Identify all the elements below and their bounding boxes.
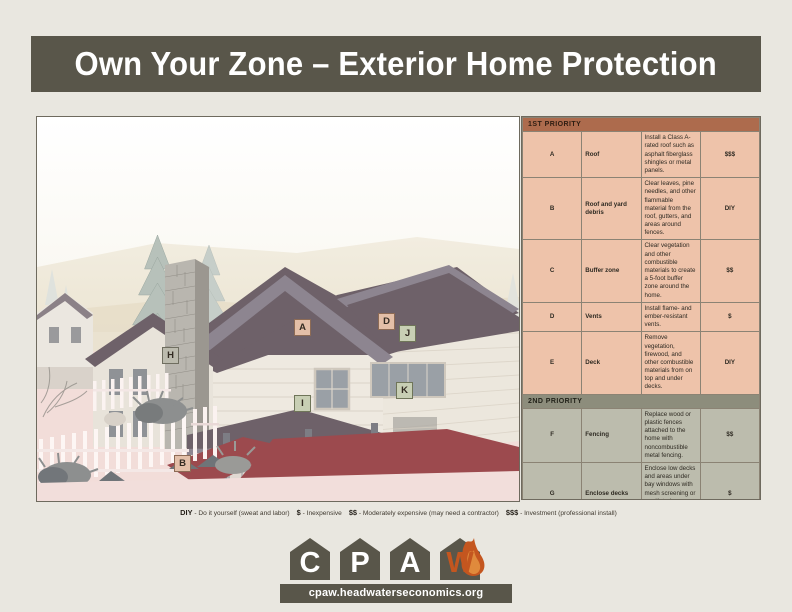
table-row: GEnclose decksEnclose low decks and area… xyxy=(523,463,760,500)
row-letter: A xyxy=(523,132,582,178)
logo-letter-p: P xyxy=(350,547,369,579)
cost-legend: DIY - Do it yourself (sweat and labor)$ … xyxy=(36,508,761,517)
legend-text: - Do it yourself (sweat and labor) xyxy=(193,510,290,517)
map-marker-d[interactable]: D xyxy=(378,313,395,330)
page-title-bar: Own Your Zone – Exterior Home Protection xyxy=(31,36,761,92)
row-description: Install a Class A-rated roof such as asp… xyxy=(641,132,700,178)
map-marker-h[interactable]: H xyxy=(162,347,179,364)
row-description: Clear vegetation and other combustible m… xyxy=(641,240,700,302)
map-marker-k[interactable]: K xyxy=(396,382,413,399)
row-cost: $$ xyxy=(700,408,759,462)
row-description: Replace wood or plastic fences attached … xyxy=(641,408,700,462)
map-marker-i[interactable]: I xyxy=(294,395,311,412)
row-cost: DIY xyxy=(700,332,759,394)
logo-letter-w: W xyxy=(446,547,474,579)
row-cost: DIY xyxy=(700,178,759,240)
row-description: Enclose low decks and areas under bay wi… xyxy=(641,463,700,500)
table-row: CBuffer zoneClear vegetation and other c… xyxy=(523,240,760,302)
logo-letter-c: C xyxy=(300,547,321,579)
row-topic: Buffer zone xyxy=(582,240,641,302)
map-marker-a[interactable]: A xyxy=(294,319,311,336)
row-topic: Roof and yard debris xyxy=(582,178,641,240)
priority-section-header: 2ND PRIORITY xyxy=(523,394,760,408)
row-letter: B xyxy=(523,178,582,240)
table-row: FFencingReplace wood or plastic fences a… xyxy=(523,408,760,462)
house-illustration: ABCDEFGHIJKL xyxy=(36,116,520,502)
legend-symbol: $$ xyxy=(349,508,357,517)
legend-symbol: $$$ xyxy=(506,508,518,517)
row-topic: Vents xyxy=(582,302,641,332)
row-letter: D xyxy=(523,302,582,332)
row-letter: F xyxy=(523,408,582,462)
priority-guide-table: 1ST PRIORITYARoofInstall a Class A-rated… xyxy=(521,116,761,500)
cpaw-logo: C P A W cpaw.headwaterseconomics.org xyxy=(280,536,512,603)
row-topic: Fencing xyxy=(582,408,641,462)
row-topic: Deck xyxy=(582,332,641,394)
table-row: BRoof and yard debrisClear leaves, pine … xyxy=(523,178,760,240)
guide-table: 1ST PRIORITYARoofInstall a Class A-rated… xyxy=(522,117,760,500)
logo-letter-a: A xyxy=(400,547,421,579)
priority-section-title: 2ND PRIORITY xyxy=(523,394,760,408)
row-description: Install flame- and ember-resistant vents… xyxy=(641,302,700,332)
row-letter: G xyxy=(523,463,582,500)
cpaw-url[interactable]: cpaw.headwaterseconomics.org xyxy=(280,584,512,603)
cpaw-logo-mark: C P A W xyxy=(280,536,512,582)
table-row: DVentsInstall flame- and ember-resistant… xyxy=(523,302,760,332)
priority-section-header: 1ST PRIORITY xyxy=(523,118,760,132)
priority-section-title: 1ST PRIORITY xyxy=(523,118,760,132)
map-marker-j[interactable]: J xyxy=(399,325,416,342)
row-cost: $$ xyxy=(700,240,759,302)
row-cost: $$$ xyxy=(700,132,759,178)
legend-text: - Investment (professional install) xyxy=(518,510,617,517)
row-topic: Enclose decks xyxy=(582,463,641,500)
legend-text: - Inexpensive xyxy=(301,510,342,517)
row-letter: E xyxy=(523,332,582,394)
row-description: Remove vegetation, firewood, and other c… xyxy=(641,332,700,394)
row-cost: $ xyxy=(700,302,759,332)
row-description: Clear leaves, pine needles, and other fl… xyxy=(641,178,700,240)
map-marker-b[interactable]: B xyxy=(174,455,191,472)
poster-page: Own Your Zone – Exterior Home Protection xyxy=(0,0,792,612)
page-title: Own Your Zone – Exterior Home Protection xyxy=(75,45,717,83)
table-row: EDeckRemove vegetation, firewood, and ot… xyxy=(523,332,760,394)
legend-symbol: DIY xyxy=(180,508,192,517)
row-cost: $ xyxy=(700,463,759,500)
row-letter: C xyxy=(523,240,582,302)
marker-layer: ABCDEFGHIJKL xyxy=(37,117,519,501)
cpaw-logo-svg: C P A W xyxy=(280,536,512,582)
table-row: ARoofInstall a Class A-rated roof such a… xyxy=(523,132,760,178)
row-topic: Roof xyxy=(582,132,641,178)
legend-text: - Moderately expensive (may need a contr… xyxy=(357,510,499,517)
guide-table-body: 1ST PRIORITYARoofInstall a Class A-rated… xyxy=(523,118,760,501)
